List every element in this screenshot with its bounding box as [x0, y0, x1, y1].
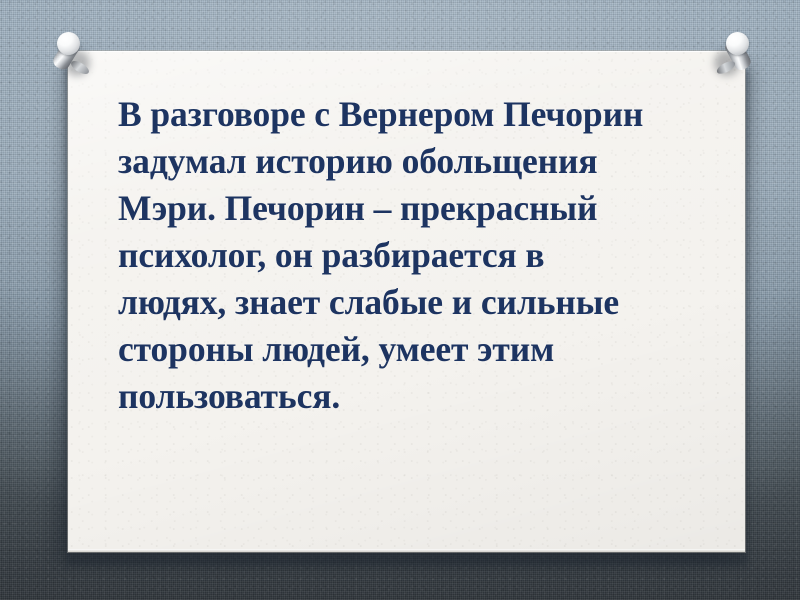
- note-line-5: людях, знает слабые и сильные: [118, 279, 718, 326]
- paper-bottom-edge: [68, 549, 745, 552]
- note-line-4: психолог, он разбирается в: [118, 232, 718, 279]
- pinned-note-paper: В разговоре с Вернером Печорин задумал и…: [68, 51, 745, 552]
- note-line-6: стороны людей, умеет этим: [118, 326, 718, 373]
- note-line-3: Мэри. Печорин – прекрасный: [118, 185, 718, 232]
- note-body-text: В разговоре с Вернером Печорин задумал и…: [118, 91, 718, 420]
- slide-canvas: В разговоре с Вернером Печорин задумал и…: [0, 0, 800, 600]
- note-line-7: пользоваться.: [118, 373, 718, 420]
- note-line-1: В разговоре с Вернером Печорин: [118, 91, 718, 138]
- note-line-2: задумал историю обольщения: [118, 138, 718, 185]
